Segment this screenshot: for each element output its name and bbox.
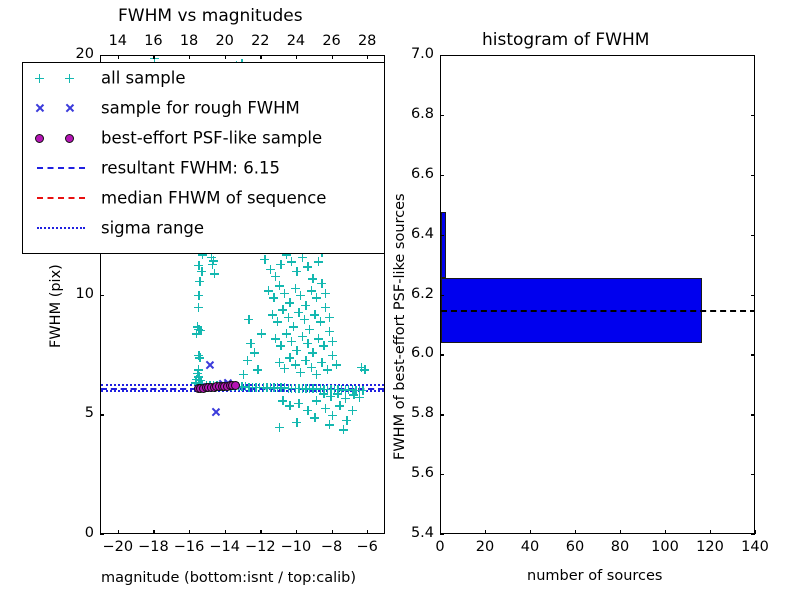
left-xticklabel-bottom: −18 [135, 539, 171, 555]
scatter-point-plus [323, 365, 332, 374]
scatter-point-plus [239, 370, 248, 379]
scatter-point-plus [280, 364, 289, 373]
scatter-point-plus [300, 315, 309, 324]
right-ytick [440, 534, 444, 535]
scatter-point-plus [319, 341, 328, 350]
scatter-point-plus [308, 274, 317, 283]
scatter-point-plus [243, 356, 252, 365]
scatter-point-plus [287, 337, 296, 346]
legend-marker-cross [65, 104, 74, 113]
scatter-point-plus [292, 267, 301, 276]
scatter-point-plus [285, 401, 294, 410]
left-xticklabel-top: 22 [242, 33, 278, 49]
right-xticklabel: 20 [467, 539, 503, 555]
scatter-point-plus [284, 313, 293, 322]
scatter-point-plus [303, 262, 312, 271]
legend-marker-cross [35, 104, 44, 113]
scatter-point-plus [244, 315, 253, 324]
scatter-point-plus [276, 341, 285, 350]
scatter-point-plus [296, 368, 305, 377]
right-yticklabel: 6.2 [392, 286, 434, 302]
scatter-point-plus [325, 327, 334, 336]
left-xticklabel-top: 24 [278, 33, 314, 49]
scatter-point-plus [246, 339, 255, 348]
left-yticklabel: 10 [56, 286, 94, 302]
scatter-point-plus [257, 329, 266, 338]
scatter-point-plus [328, 351, 337, 360]
left-xtick-top [260, 55, 261, 59]
left-xtick-bottom [332, 530, 333, 534]
legend-label: resultant FWHM: 6.15 [101, 159, 280, 178]
legend-marker-dot [35, 134, 44, 143]
left-xticklabel-bottom: −6 [349, 539, 385, 555]
legend-item-0: all sample [23, 63, 384, 93]
right-xticklabel: 60 [557, 539, 593, 555]
legend-item-3: resultant FWHM: 6.15 [23, 153, 384, 183]
scatter-point-plus [192, 329, 201, 338]
left-xtick-top [332, 55, 333, 59]
histogram-median-line [441, 310, 754, 312]
scatter-point-plus [260, 255, 269, 264]
right-ytick [440, 295, 444, 296]
legend-marker-dot [65, 134, 74, 143]
scatter-point-plus [341, 394, 350, 403]
scatter-point-plus [294, 399, 303, 408]
right-xtick [755, 530, 756, 534]
histogram-bar [441, 212, 446, 278]
scatter-point-plus [325, 313, 334, 322]
legend-label: sample for rough FWHM [101, 99, 300, 118]
right-panel-title: histogram of FWHM [482, 30, 649, 50]
right-yticklabel: 6.4 [392, 226, 434, 242]
left-xtick-top [367, 55, 368, 59]
left-xtick-bottom [225, 530, 226, 534]
right-xtick [485, 530, 486, 534]
left-xtick-top [296, 55, 297, 59]
left-xticklabel-bottom: −12 [242, 539, 278, 555]
scatter-point-plus [342, 416, 351, 425]
scatter-point-plus [357, 363, 366, 372]
scatter-point-plus [321, 289, 330, 298]
scatter-point-plus [314, 257, 323, 266]
left-panel-title: FWHM vs magnitudes [118, 6, 303, 26]
right-yticklabel: 5.4 [392, 525, 434, 541]
scatter-point-plus [321, 303, 330, 312]
right-ytick [440, 354, 444, 355]
right-ytick [440, 474, 444, 475]
left-xticklabel-top: 14 [100, 33, 136, 49]
scatter-point-plus [355, 393, 364, 402]
left-xtick-top [153, 55, 154, 59]
left-yticklabel: 5 [56, 405, 94, 421]
right-ytick-mirror [751, 414, 755, 415]
scatter-point-plus [280, 289, 289, 298]
scatter-point-plus [269, 293, 278, 302]
left-xtick-bottom [118, 530, 119, 534]
scatter-point-plus [210, 269, 219, 278]
right-yticklabel: 6.0 [392, 345, 434, 361]
legend-item-5: sigma range [23, 213, 384, 243]
right-yticklabel: 7.0 [392, 46, 434, 62]
legend-label: median FHWM of sequence [101, 189, 326, 208]
left-ytick [100, 55, 104, 56]
scatter-point-cross [211, 407, 220, 416]
scatter-point-plus [328, 337, 337, 346]
scatter-point-plus [312, 293, 321, 302]
right-ytick-mirror [751, 55, 755, 56]
scatter-point-plus [276, 260, 285, 269]
legend-marker-plus [65, 74, 74, 83]
legend-marker-plus [35, 74, 44, 83]
scatter-point-plus [332, 360, 341, 369]
left-xticklabel-top: 18 [171, 33, 207, 49]
left-ytick [100, 295, 104, 296]
legend-line-red-dash [37, 197, 85, 199]
scatter-point-plus [194, 303, 203, 312]
legend-line-blue-dash [37, 167, 85, 169]
right-ytick [440, 175, 444, 176]
left-xticklabel-top: 28 [349, 33, 385, 49]
scatter-point-plus [310, 413, 319, 422]
figure-canvas: FWHM vs magnitudes FWHM (pix) magnitude … [0, 0, 800, 600]
left-panel-xlabel: magnitude (bottom:isnt / top:calib) [101, 570, 356, 586]
right-xticklabel: 40 [512, 539, 548, 555]
legend-label: all sample [101, 69, 186, 88]
right-ytick [440, 235, 444, 236]
left-xtick-top [118, 55, 119, 59]
scatter-point-plus [195, 353, 204, 362]
left-yticklabel: 0 [56, 525, 94, 541]
scatter-point-plus [273, 317, 282, 326]
scatter-point-plus [296, 291, 305, 300]
legend-item-4: median FHWM of sequence [23, 183, 384, 213]
scatter-point-plus [194, 291, 203, 300]
right-xticklabel: 100 [647, 539, 683, 555]
legend: all samplesample for rough FWHMbest-effo… [22, 62, 385, 254]
right-yticklabel: 5.8 [392, 405, 434, 421]
scatter-point-plus [348, 406, 357, 415]
left-xtick-top [189, 55, 190, 59]
right-xticklabel: 0 [422, 539, 458, 555]
left-xtick-bottom [296, 530, 297, 534]
right-xticklabel: 140 [737, 539, 773, 555]
scatter-point-plus [298, 253, 307, 262]
right-ytick-mirror [751, 354, 755, 355]
right-panel-xlabel: number of sources [527, 568, 663, 584]
scatter-point-plus [208, 260, 217, 269]
left-ytick [100, 534, 104, 535]
scatter-point-plus [317, 279, 326, 288]
scatter-point-plus [312, 370, 321, 379]
left-xtick-bottom [367, 530, 368, 534]
left-xticklabel-top: 20 [207, 33, 243, 49]
left-xticklabel-bottom: −16 [171, 539, 207, 555]
scatter-point-plus [316, 317, 325, 326]
right-xticklabel: 120 [692, 539, 728, 555]
right-ytick [440, 115, 444, 116]
right-yticklabel: 6.6 [392, 166, 434, 182]
right-ytick-mirror [751, 175, 755, 176]
legend-item-2: best-effort PSF-like sample [23, 123, 384, 153]
right-xtick [620, 530, 621, 534]
left-xticklabel-top: 26 [314, 33, 350, 49]
left-panel-ylabel: FWHM (pix) [48, 264, 64, 348]
left-xtick-bottom [189, 530, 190, 534]
scatter-point-plus [275, 423, 284, 432]
scatter-point-cross [205, 360, 214, 369]
left-xticklabel-bottom: −8 [314, 539, 350, 555]
left-xticklabel-bottom: −10 [278, 539, 314, 555]
scatter-point-dot [231, 381, 240, 390]
legend-label: best-effort PSF-like sample [101, 129, 322, 148]
right-ytick-mirror [751, 534, 755, 535]
right-yticklabel: 5.6 [392, 465, 434, 481]
right-ytick-mirror [751, 115, 755, 116]
scatter-point-plus [339, 425, 348, 434]
scatter-point-plus [303, 339, 312, 348]
right-xtick [710, 530, 711, 534]
right-xtick [530, 530, 531, 534]
left-ytick [100, 414, 104, 415]
scatter-point-plus [325, 420, 334, 429]
left-xtick-bottom [153, 530, 154, 534]
scatter-point-plus [271, 272, 280, 281]
right-ytick-mirror [751, 295, 755, 296]
left-xtick-top [225, 55, 226, 59]
left-xticklabel-bottom: −14 [207, 539, 243, 555]
legend-item-1: sample for rough FWHM [23, 93, 384, 123]
right-ytick [440, 55, 444, 56]
scatter-point-plus [197, 267, 206, 276]
right-xtick [665, 530, 666, 534]
right-ytick-mirror [751, 474, 755, 475]
right-ytick [440, 414, 444, 415]
scatter-point-plus [328, 411, 337, 420]
right-yticklabel: 6.8 [392, 106, 434, 122]
scatter-point-plus [195, 277, 204, 286]
left-xtick-bottom [260, 530, 261, 534]
scatter-point-plus [292, 418, 301, 427]
left-xticklabel-top: 16 [135, 33, 171, 49]
right-xtick [575, 530, 576, 534]
right-ytick-mirror [751, 235, 755, 236]
left-yticklabel: 20 [56, 46, 94, 62]
right-panel-plot-area [441, 56, 754, 533]
legend-line-blue-dashdot [37, 227, 85, 229]
left-xticklabel-bottom: −20 [100, 539, 136, 555]
right-xticklabel: 80 [602, 539, 638, 555]
scatter-point-plus [253, 365, 262, 374]
legend-label: sigma range [101, 219, 204, 238]
scatter-point-plus [287, 257, 296, 266]
